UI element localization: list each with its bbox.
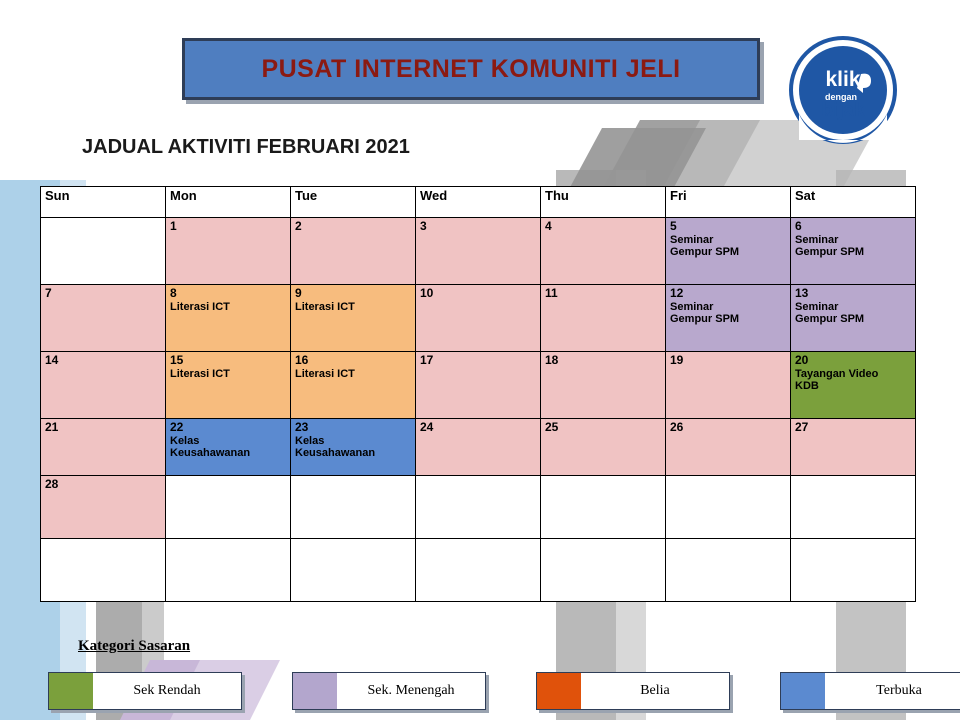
weekday-mon: Mon [166,187,291,218]
weekday-wed: Wed [416,187,541,218]
day-number: 16 [295,354,411,368]
page-title: JADUAL AKTIVITI FEBRUARI 2021 [82,136,410,159]
calendar-day-cell[interactable]: 16Literasi ICT [291,352,416,419]
day-number: 20 [795,354,911,368]
calendar-header-row: Sun Mon Tue Wed Thu Fri Sat [41,187,916,218]
calendar-day-cell[interactable]: 4 [541,218,666,285]
calendar-day-cell[interactable] [41,539,166,602]
svg-text:klik: klik [825,68,860,91]
calendar-week-row: 28 [41,476,916,539]
calendar-day-cell[interactable]: 13Seminar Gempur SPM [791,285,916,352]
day-number: 28 [45,478,161,492]
calendar-day-cell[interactable]: 22Kelas Keusahawanan [166,419,291,476]
calendar-day-cell[interactable] [41,218,166,285]
calendar-day-cell[interactable] [291,539,416,602]
day-number: 27 [795,421,911,435]
day-number: 21 [45,421,161,435]
day-event-label: Literasi ICT [170,301,286,314]
legend-label: Sek Rendah [93,673,241,709]
day-event-label: Literasi ICT [295,368,411,381]
day-number: 11 [545,287,661,301]
day-number: 2 [295,220,411,234]
calendar-day-cell[interactable] [541,476,666,539]
calendar-day-cell[interactable] [791,539,916,602]
calendar-week-row [41,539,916,602]
legend: Sek RendahSek. MenengahBeliaTerbuka [48,672,960,710]
day-number: 26 [670,421,786,435]
day-number: 5 [670,220,786,234]
calendar-day-cell[interactable] [666,476,791,539]
day-number: 13 [795,287,911,301]
calendar-day-cell[interactable]: 2 [291,218,416,285]
day-number: 17 [420,354,536,368]
klik-dengan-bijak-logo: klik dengan bijak [789,36,897,144]
legend-label: Sek. Menengah [337,673,485,709]
day-number: 24 [420,421,536,435]
weekday-thu: Thu [541,187,666,218]
day-number: 18 [545,354,661,368]
day-number: 3 [420,220,536,234]
calendar-day-cell[interactable]: 23Kelas Keusahawanan [291,419,416,476]
day-event-label: Kelas Keusahawanan [170,435,286,460]
legend-color-swatch [293,673,337,709]
day-number: 10 [420,287,536,301]
calendar-week-row: 12345Seminar Gempur SPM6Seminar Gempur S… [41,218,916,285]
calendar-day-cell[interactable]: 6Seminar Gempur SPM [791,218,916,285]
day-event-label: Seminar Gempur SPM [795,234,911,259]
day-number: 4 [545,220,661,234]
calendar-day-cell[interactable]: 5Seminar Gempur SPM [666,218,791,285]
calendar-day-cell[interactable]: 17 [416,352,541,419]
calendar-day-cell[interactable] [166,476,291,539]
calendar-week-row: 2122Kelas Keusahawanan23Kelas Keusahawan… [41,419,916,476]
calendar-week-row: 1415Literasi ICT16Literasi ICT17181920Ta… [41,352,916,419]
calendar-day-cell[interactable] [416,539,541,602]
calendar-day-cell[interactable]: 12Seminar Gempur SPM [666,285,791,352]
legend-label: Belia [581,673,729,709]
day-number: 7 [45,287,161,301]
calendar-day-cell[interactable]: 25 [541,419,666,476]
calendar-day-cell[interactable] [416,476,541,539]
day-number: 9 [295,287,411,301]
calendar-day-cell[interactable]: 15Literasi ICT [166,352,291,419]
svg-text:bijak: bijak [821,100,865,121]
calendar-week-row: 78Literasi ICT9Literasi ICT101112Seminar… [41,285,916,352]
legend-item: Sek. Menengah [292,672,486,710]
legend-item: Terbuka [780,672,960,710]
calendar-day-cell[interactable]: 21 [41,419,166,476]
day-event-label: Literasi ICT [295,301,411,314]
day-number: 12 [670,287,786,301]
day-event-label: Seminar Gempur SPM [670,301,786,326]
day-number: 15 [170,354,286,368]
day-event-label: Seminar Gempur SPM [795,301,911,326]
legend-color-swatch [781,673,825,709]
legend-color-swatch [537,673,581,709]
calendar-day-cell[interactable]: 9Literasi ICT [291,285,416,352]
calendar-day-cell[interactable]: 14 [41,352,166,419]
calendar-day-cell[interactable]: 10 [416,285,541,352]
calendar-day-cell[interactable] [666,539,791,602]
calendar-day-cell[interactable]: 24 [416,419,541,476]
day-event-label: Kelas Keusahawanan [295,435,411,460]
weekday-sat: Sat [791,187,916,218]
calendar-day-cell[interactable]: 1 [166,218,291,285]
calendar-day-cell[interactable]: 28 [41,476,166,539]
calendar-day-cell[interactable] [166,539,291,602]
legend-title: Kategori Sasaran [78,638,190,655]
weekday-fri: Fri [666,187,791,218]
calendar-day-cell[interactable]: 11 [541,285,666,352]
page-banner: PUSAT INTERNET KOMUNITI JELI [182,38,760,100]
weekday-sun: Sun [41,187,166,218]
day-number: 1 [170,220,286,234]
calendar-day-cell[interactable]: 27 [791,419,916,476]
legend-item: Belia [536,672,730,710]
calendar-day-cell[interactable]: 18 [541,352,666,419]
calendar-day-cell[interactable]: 3 [416,218,541,285]
weekday-tue: Tue [291,187,416,218]
calendar-day-cell[interactable] [291,476,416,539]
activity-calendar: Sun Mon Tue Wed Thu Fri Sat 12345Seminar… [40,186,916,602]
calendar-day-cell[interactable]: 26 [666,419,791,476]
legend-color-swatch [49,673,93,709]
day-number: 6 [795,220,911,234]
calendar-day-cell[interactable]: 19 [666,352,791,419]
calendar-day-cell[interactable]: 7 [41,285,166,352]
day-number: 8 [170,287,286,301]
banner-title: PUSAT INTERNET KOMUNITI JELI [261,55,680,84]
calendar-day-cell[interactable] [541,539,666,602]
day-number: 19 [670,354,786,368]
day-event-label: Tayangan Video KDB [795,368,911,393]
legend-label: Terbuka [825,673,960,709]
day-number: 22 [170,421,286,435]
legend-item: Sek Rendah [48,672,242,710]
day-event-label: Seminar Gempur SPM [670,234,786,259]
day-number: 25 [545,421,661,435]
day-event-label: Literasi ICT [170,368,286,381]
calendar-day-cell[interactable]: 20Tayangan Video KDB [791,352,916,419]
calendar-day-cell[interactable] [791,476,916,539]
day-number: 14 [45,354,161,368]
day-number: 23 [295,421,411,435]
calendar-day-cell[interactable]: 8Literasi ICT [166,285,291,352]
